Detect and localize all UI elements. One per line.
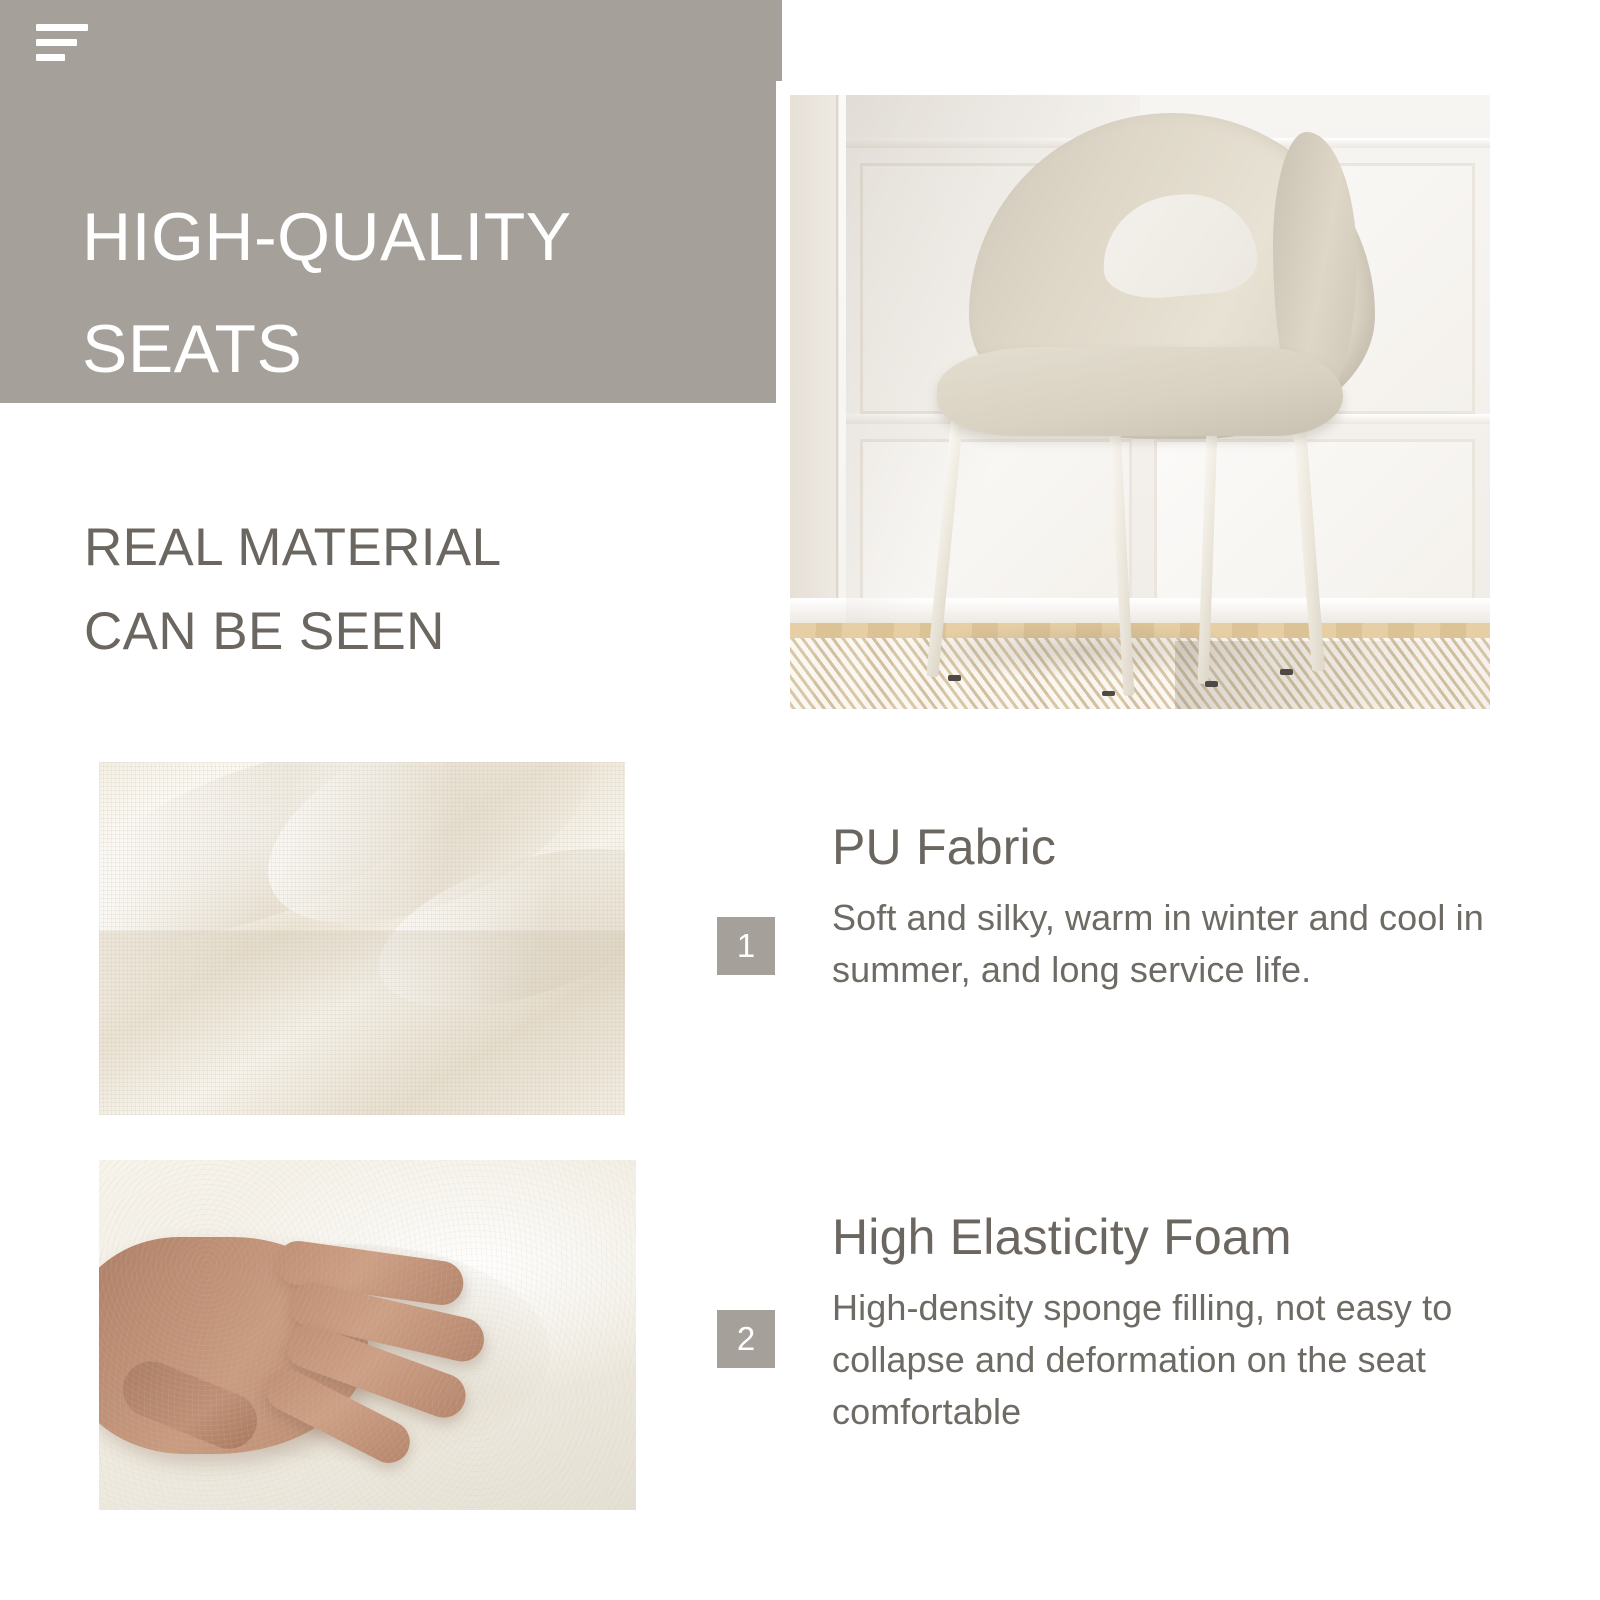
feature-photo-pu-fabric — [99, 762, 625, 1115]
feature-description-foam: High-density sponge filling, not easy to… — [832, 1282, 1562, 1438]
header-band: HIGH-QUALITY SEATS — [0, 0, 782, 403]
chair-leg-cap — [948, 675, 961, 681]
section-subtitle: REAL MATERIAL CAN BE SEEN — [84, 506, 704, 674]
menu-bar-middle — [36, 39, 77, 46]
feature-text-foam: High Elasticity Foam High-density sponge… — [832, 1206, 1562, 1438]
feature-badge-1: 1 — [717, 917, 775, 975]
chair-seat-cushion — [937, 347, 1343, 436]
chair-illustration — [790, 95, 1490, 709]
menu-bar-top — [36, 24, 88, 31]
page-title: HIGH-QUALITY SEATS — [82, 181, 722, 405]
feature-description-pu-fabric: Soft and silky, warm in winter and cool … — [832, 892, 1532, 996]
feature-badge-2: 2 — [717, 1310, 775, 1368]
chair-ground-shadow — [902, 623, 1266, 678]
feature-text-pu-fabric: PU Fabric Soft and silky, warm in winter… — [832, 816, 1532, 996]
hamburger-menu-icon[interactable] — [36, 20, 96, 60]
feature-title-foam: High Elasticity Foam — [832, 1206, 1562, 1268]
chair-scene — [790, 95, 1490, 709]
chair-leg — [1291, 402, 1325, 672]
feature-title-pu-fabric: PU Fabric — [832, 816, 1532, 878]
fabric-grain-texture — [99, 762, 625, 1115]
menu-bar-bottom — [36, 54, 65, 61]
chair-leg-cap — [1205, 681, 1218, 687]
chair-leg-cap — [1280, 669, 1293, 675]
feature-photo-foam — [99, 1160, 636, 1510]
chair-back-cutout — [1098, 188, 1260, 302]
foam-texture — [99, 1160, 636, 1510]
hero-product-photo — [776, 81, 1504, 723]
chair-leg-cap — [1102, 691, 1115, 697]
